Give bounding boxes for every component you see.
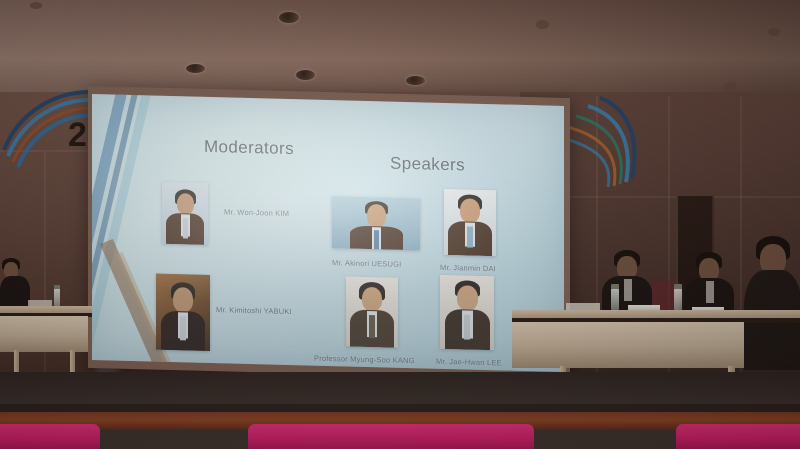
panelist [744, 236, 800, 370]
face [177, 193, 194, 214]
speaker-photo [332, 196, 420, 250]
tie [369, 315, 375, 338]
face [460, 198, 480, 223]
panel-table-leg [70, 350, 75, 374]
water-bottle [54, 288, 60, 306]
panel-table-front [0, 316, 88, 352]
shirt [624, 279, 632, 301]
speaker-name: Mr. Jianmin DAI [440, 263, 496, 273]
speaker-photo [444, 189, 496, 256]
water-bottle [611, 288, 619, 310]
speaker-name: Mr. Jae-Hwan LEE [436, 357, 502, 368]
auditorium-seat [676, 424, 800, 449]
ceiling-spotlight [186, 64, 205, 73]
tie [374, 230, 379, 249]
banner-left-glyph: 2 [68, 116, 87, 155]
face [457, 285, 478, 311]
speaker-photo [440, 275, 494, 350]
speaker-name: Professor Myung-Soo KANG [314, 354, 415, 366]
auditorium-seat [0, 424, 100, 449]
projection-screen: Moderators Speakers Mr. Won-Joon KIM [92, 94, 564, 372]
wall-banner-left: 2 [0, 88, 96, 174]
ceiling-sprinkler [30, 2, 42, 9]
bottle-cap [674, 284, 682, 289]
slide-heading-moderators: Moderators [204, 137, 294, 159]
ceiling-spotlight [296, 70, 315, 80]
speaker-name: Mr. Akinori UESUGI [332, 258, 401, 269]
panel-table-leg [14, 350, 19, 374]
face [173, 287, 193, 313]
presentation-slide: Moderators Speakers Mr. Won-Joon KIM [92, 94, 564, 372]
tie [464, 314, 470, 339]
water-bottle [674, 288, 682, 310]
tie [183, 218, 188, 238]
ceiling [0, 0, 800, 96]
slide-heading-speakers: Speakers [390, 154, 465, 176]
auditorium-seat [248, 424, 534, 449]
tie [467, 227, 473, 248]
bottle-cap [611, 284, 619, 289]
panel-table-front [512, 322, 744, 368]
moderator-photo [156, 274, 210, 351]
ceiling-sprinkler [768, 28, 780, 36]
ceiling-spotlight [406, 76, 425, 85]
moderator-name: Mr. Won-Joon KIM [224, 207, 289, 218]
tie [180, 316, 186, 340]
moderator-photo [162, 182, 208, 245]
face [362, 287, 382, 312]
face [367, 204, 386, 227]
shirt [706, 281, 714, 303]
speaker-photo [346, 276, 398, 347]
floor-marking [0, 404, 800, 412]
ceiling-sprinkler [536, 20, 549, 29]
ceiling-spotlight [279, 12, 299, 23]
ceiling-sprinkler [724, 82, 737, 91]
moderator-name: Mr. Kimitoshi YABUKI [216, 305, 292, 316]
conference-room-photo: 2 e Moderators Speakers [0, 0, 800, 449]
bottle-cap [54, 285, 60, 289]
